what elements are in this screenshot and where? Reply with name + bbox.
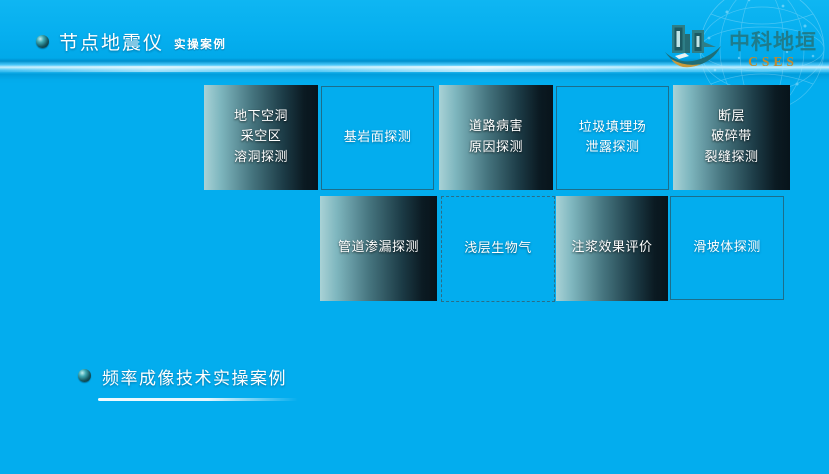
brand-name-en: CSES xyxy=(748,55,798,69)
page-subtitle: 实操案例 xyxy=(174,36,226,52)
section-underline xyxy=(98,398,298,401)
topic-card-label: 地下空洞 采空区 溶洞探测 xyxy=(234,107,288,167)
topic-card-underground-cavity[interactable]: 地下空洞 采空区 溶洞探测 xyxy=(204,85,318,190)
topic-card-grouting-evaluation[interactable]: 注浆效果评价 xyxy=(556,196,668,301)
slide-canvas: 节点地震仪 实操案例 中科地垣 CSES 地下空洞 xyxy=(0,0,829,474)
cses-building-wave-logo-icon xyxy=(663,22,725,68)
topic-card-pipeline-leakage[interactable]: 管道渗漏探测 xyxy=(320,196,437,301)
topic-card-landslide-detection[interactable]: 滑坡体探测 xyxy=(670,196,784,300)
page-title: 节点地震仪 xyxy=(59,28,164,55)
section-heading: 频率成像技术实操案例 xyxy=(78,364,408,401)
topic-card-label: 注浆效果评价 xyxy=(571,238,652,258)
topic-card-road-defect[interactable]: 道路病害 原因探测 xyxy=(439,85,553,190)
brand-logo: 中科地垣 CSES xyxy=(663,22,817,68)
brand-name-cn: 中科地垣 xyxy=(729,32,817,53)
topic-card-label: 基岩面探测 xyxy=(344,128,412,148)
topic-card-shallow-biogas[interactable]: 浅层生物气 xyxy=(441,196,555,302)
section-heading-row: 频率成像技术实操案例 xyxy=(78,364,408,389)
topic-card-label: 浅层生物气 xyxy=(464,239,532,259)
section-title: 频率成像技术实操案例 xyxy=(102,364,287,389)
topic-card-label: 滑坡体探测 xyxy=(693,238,761,258)
topic-card-fault-fracture[interactable]: 断层 破碎带 裂缝探测 xyxy=(673,85,790,190)
topic-card-label: 道路病害 原因探测 xyxy=(469,117,523,157)
topic-card-bedrock-surface[interactable]: 基岩面探测 xyxy=(321,86,434,190)
sphere-bullet-icon xyxy=(36,35,49,48)
sphere-bullet-icon xyxy=(78,369,91,382)
header-lower-glow xyxy=(0,74,829,84)
topic-card-label: 断层 破碎带 裂缝探测 xyxy=(704,107,758,167)
topic-card-landfill-leakage[interactable]: 垃圾填埋场 泄露探测 xyxy=(556,86,669,190)
topic-card-label: 管道渗漏探测 xyxy=(338,238,419,258)
header-title-row: 节点地震仪 实操案例 xyxy=(36,28,226,55)
topic-card-label: 垃圾填埋场 泄露探测 xyxy=(579,118,647,158)
brand-logo-text: 中科地垣 CSES xyxy=(729,32,817,69)
